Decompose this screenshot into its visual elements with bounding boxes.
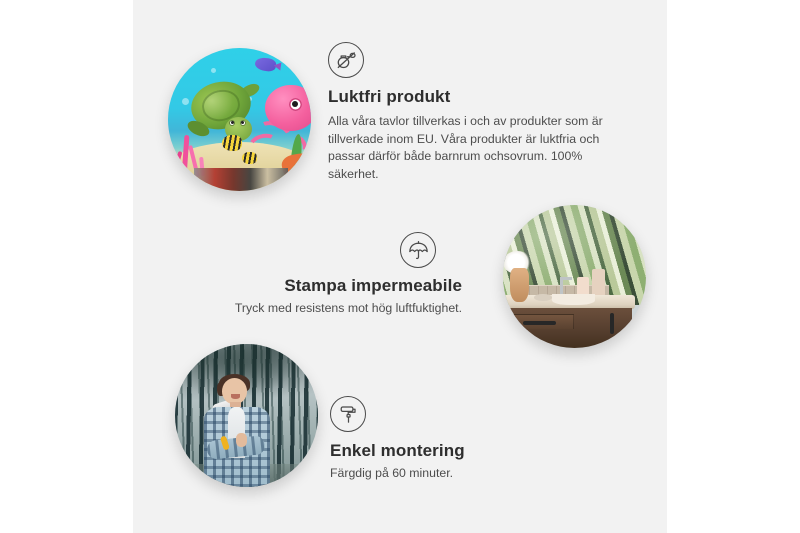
- drawer-handle: [523, 321, 556, 325]
- icon-row: [210, 232, 462, 268]
- feature-title: Luktfri produkt: [328, 87, 628, 107]
- yellow-fish-icon: [222, 135, 242, 151]
- sink: [552, 294, 595, 305]
- photo-disc-bathroom: [503, 205, 646, 348]
- feature-title: Stampa impermeabile: [210, 276, 462, 296]
- smile: [231, 394, 240, 398]
- bubble-icon: [211, 68, 216, 73]
- paint-roller-icon: [330, 396, 366, 432]
- soap-dish: [534, 294, 551, 301]
- umbrella-icon: [400, 232, 436, 268]
- octopus-body: [265, 85, 311, 131]
- vanity-cabinet: [506, 308, 632, 348]
- feature-block-waterproof: Stampa impermeabile Tryck med resistens …: [210, 232, 462, 318]
- yellow-fish-icon: [242, 152, 256, 163]
- face: [222, 378, 247, 405]
- ocean-foreground-strip: [194, 168, 288, 191]
- no-fragrance-spray-icon: [328, 42, 364, 78]
- feature-description: Färgdig på 60 minuter.: [330, 465, 600, 483]
- vase: [510, 268, 529, 302]
- photo-disc-forest: [175, 344, 318, 487]
- turtle-eye: [240, 120, 246, 126]
- cabinet-handle: [610, 313, 614, 334]
- photo-disc-ocean: [168, 48, 311, 191]
- feature-description: Alla våra tavlor tillverkas i och av pro…: [328, 113, 628, 183]
- hand: [236, 433, 248, 446]
- woman-with-roller: [201, 375, 284, 487]
- product-feature-panel: Luktfri produkt Alla våra tavlor tillver…: [0, 0, 800, 533]
- feature-block-easy-install: Enkel montering Färgdig på 60 minuter.: [330, 396, 600, 483]
- feature-description: Tryck med resistens mot hög luftfuktighe…: [210, 300, 462, 318]
- feature-block-odourless: Luktfri produkt Alla våra tavlor tillver…: [328, 42, 628, 183]
- feature-title: Enkel montering: [330, 441, 600, 461]
